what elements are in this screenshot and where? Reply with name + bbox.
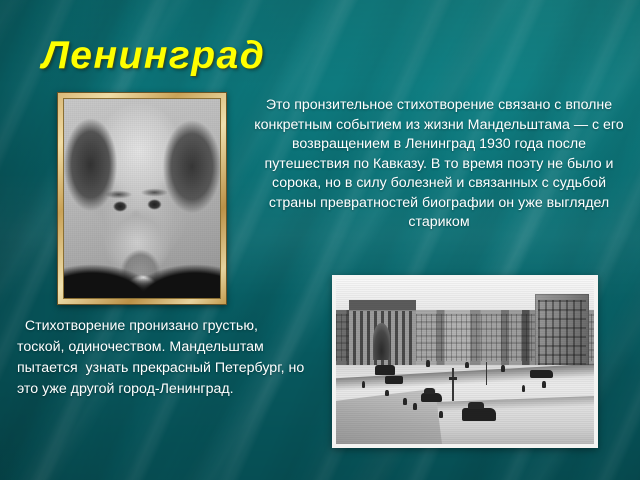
portrait-film-grain: [64, 99, 220, 298]
summary-paragraph: Стихотворение пронизано грустью, тоской,…: [17, 316, 307, 400]
portrait-photo-frame: [57, 92, 227, 305]
intro-paragraph: Это пронзительное стихотворение связано …: [248, 96, 630, 233]
city-film-grain: [336, 279, 594, 444]
portrait-frame-inner: [63, 98, 221, 299]
city-photograph: [332, 275, 598, 448]
city-arch-opening: [373, 323, 390, 360]
slide-title: Ленинград: [42, 36, 265, 77]
city-photograph-image: [336, 279, 594, 444]
presentation-slide: Ленинград Это пронзительное стихотворени…: [0, 0, 640, 480]
